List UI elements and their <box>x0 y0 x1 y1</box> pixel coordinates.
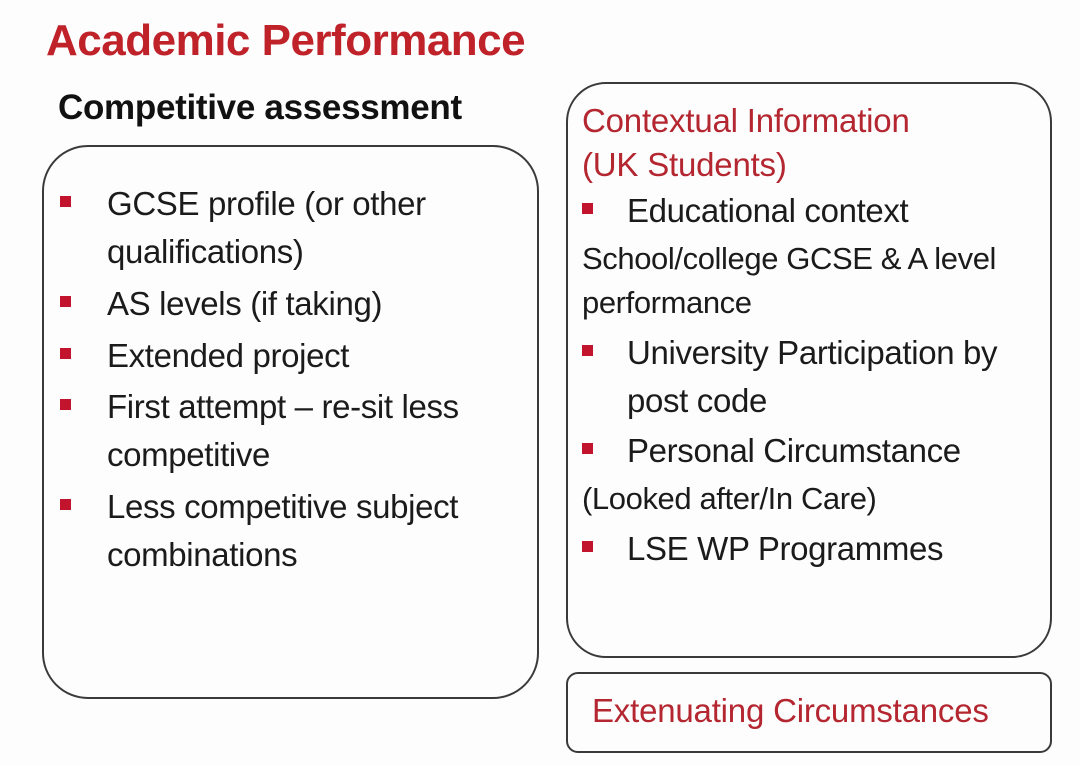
list-item-label: University Participation by post code <box>593 329 1052 425</box>
list-item-label: Educational context <box>593 187 908 235</box>
list-item-label: First attempt – re-sit less competitive <box>71 383 540 479</box>
list-item-subtext: School/college GCSE & A level performanc… <box>582 237 1052 325</box>
slide-canvas: Academic Performance Competitive assessm… <box>0 0 1080 765</box>
left-panel-content: GCSE profile (or other qualifications) A… <box>60 180 540 583</box>
list-item-label: GCSE profile (or other qualifications) <box>71 180 540 276</box>
list-item: Extended project <box>60 332 540 380</box>
list-item-label: Less competitive subject combinations <box>71 483 540 579</box>
list-item: University Participation by post code <box>582 329 1052 425</box>
bottom-panel-label: Extenuating Circumstances <box>592 692 989 730</box>
left-panel-heading: Competitive assessment <box>58 90 462 127</box>
square-bullet-icon <box>582 203 593 214</box>
right-panel-heading-line2: (UK Students) <box>582 144 1052 186</box>
square-bullet-icon <box>60 196 71 207</box>
list-item-label: Extended project <box>71 332 349 380</box>
list-item: Personal Circumstance <box>582 427 1052 475</box>
square-bullet-icon <box>60 348 71 359</box>
page-title: Academic Performance <box>46 18 525 64</box>
list-item: AS levels (if taking) <box>60 280 540 328</box>
list-item: LSE WP Programmes <box>582 525 1052 573</box>
square-bullet-icon <box>582 345 593 356</box>
list-item: GCSE profile (or other qualifications) <box>60 180 540 276</box>
list-item-label: AS levels (if taking) <box>71 280 382 328</box>
list-item-label: Personal Circumstance <box>593 427 961 475</box>
list-item: Educational context <box>582 187 1052 235</box>
right-panel-heading-line1: Contextual Information <box>582 100 1052 142</box>
list-item-subtext: (Looked after/In Care) <box>582 477 1052 521</box>
square-bullet-icon <box>582 443 593 454</box>
square-bullet-icon <box>582 541 593 552</box>
right-panel-content: Contextual Information (UK Students) Edu… <box>582 100 1052 574</box>
list-item: Less competitive subject combinations <box>60 483 540 579</box>
square-bullet-icon <box>60 399 71 410</box>
square-bullet-icon <box>60 499 71 510</box>
list-item-label: LSE WP Programmes <box>593 525 943 573</box>
list-item: First attempt – re-sit less competitive <box>60 383 540 479</box>
square-bullet-icon <box>60 296 71 307</box>
